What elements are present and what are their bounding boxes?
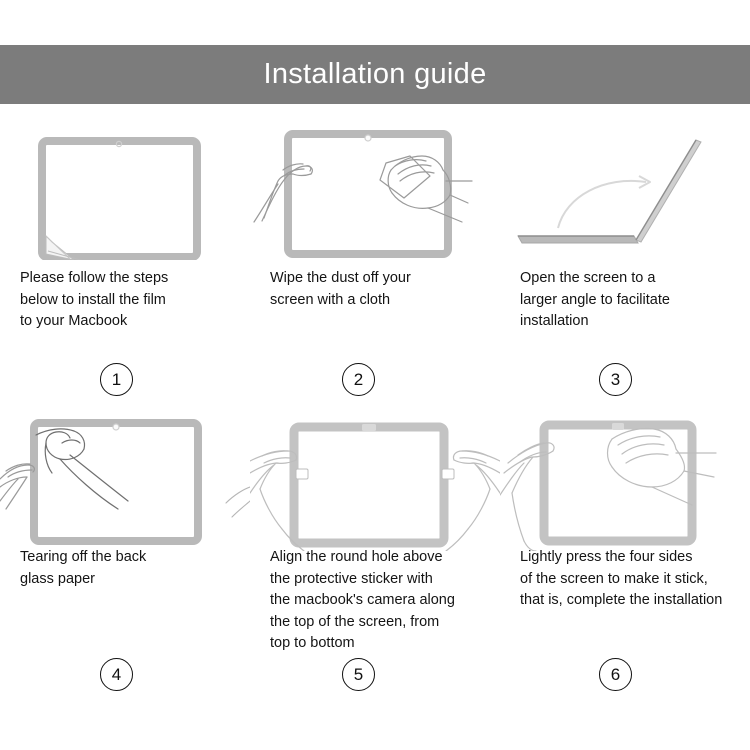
step-4-illustration — [0, 409, 250, 551]
step-5-text: Align the round hole above the protectiv… — [250, 547, 500, 655]
step-number-4: 4 — [112, 666, 121, 683]
step-number-2: 2 — [354, 371, 363, 388]
step-3-line-2: larger angle to facilitate — [520, 290, 734, 312]
step-3-line-1: Open the screen to a — [520, 268, 734, 290]
step-number-6: 6 — [611, 666, 620, 683]
step-1-text: Please follow the steps below to install… — [0, 268, 250, 333]
hands-tearing-back-glass-paper — [0, 409, 250, 551]
step-number-badge-3: 3 — [599, 363, 632, 396]
step-1-illustration — [0, 118, 250, 260]
step-5-line-5: top to bottom — [270, 633, 484, 655]
page-title: Installation guide — [263, 60, 486, 89]
step-2-line-1: Wipe the dust off your — [270, 268, 484, 290]
step-3-text: Open the screen to a larger angle to fac… — [500, 268, 750, 333]
two-hands-aligning-film-over-screen — [250, 409, 500, 551]
step-6-line-2: of the screen to make it stick, — [520, 569, 734, 591]
step-3-line-3: installation — [520, 311, 734, 333]
step-cell-1: Please follow the steps below to install… — [0, 118, 250, 409]
step-2-illustration — [250, 118, 500, 260]
step-2-line-2: screen with a cloth — [270, 290, 484, 312]
step-number-badge-5: 5 — [342, 658, 375, 691]
step-6-text: Lightly press the four sides of the scre… — [500, 547, 750, 612]
laptop-screen-with-peeling-film-corner — [0, 118, 250, 260]
step-6-line-3: that is, complete the installation — [520, 590, 734, 612]
step-cell-4: Tearing off the back glass paper 4 — [0, 409, 250, 700]
step-number-1: 1 — [112, 371, 121, 388]
step-number-badge-6: 6 — [599, 658, 632, 691]
step-5-line-4: the top of the screen, from — [270, 612, 484, 634]
step-3-illustration — [500, 118, 750, 260]
step-4-line-1: Tearing off the back — [20, 547, 234, 569]
step-1-line-3: to your Macbook — [20, 311, 234, 333]
step-4-line-2: glass paper — [20, 569, 234, 591]
step-number-badge-4: 4 — [100, 658, 133, 691]
steps-grid: Please follow the steps below to install… — [0, 118, 750, 700]
step-cell-3: Open the screen to a larger angle to fac… — [500, 118, 750, 409]
step-number-badge-2: 2 — [342, 363, 375, 396]
step-5-line-3: the macbook's camera along — [270, 590, 484, 612]
step-cell-2: Wipe the dust off your screen with a clo… — [250, 118, 500, 409]
step-number-5: 5 — [354, 666, 363, 683]
step-6-illustration — [500, 409, 750, 551]
hand-pressing-four-sides-of-screen — [500, 409, 750, 551]
header-banner: Installation guide — [0, 45, 750, 104]
step-6-line-1: Lightly press the four sides — [520, 547, 734, 569]
hand-wiping-screen-with-cloth — [250, 118, 500, 260]
laptop-side-view-opening-angle-arrow — [500, 118, 750, 260]
step-number-3: 3 — [611, 371, 620, 388]
step-2-text: Wipe the dust off your screen with a clo… — [250, 268, 500, 311]
step-5-line-1: Align the round hole above — [270, 547, 484, 569]
step-cell-6: Lightly press the four sides of the scre… — [500, 409, 750, 700]
step-cell-5: Align the round hole above the protectiv… — [250, 409, 500, 700]
step-5-line-2: the protective sticker with — [270, 569, 484, 591]
step-4-text: Tearing off the back glass paper — [0, 547, 250, 590]
step-1-line-2: below to install the film — [20, 290, 234, 312]
step-number-badge-1: 1 — [100, 363, 133, 396]
step-1-line-1: Please follow the steps — [20, 268, 234, 290]
step-5-illustration — [250, 409, 500, 551]
